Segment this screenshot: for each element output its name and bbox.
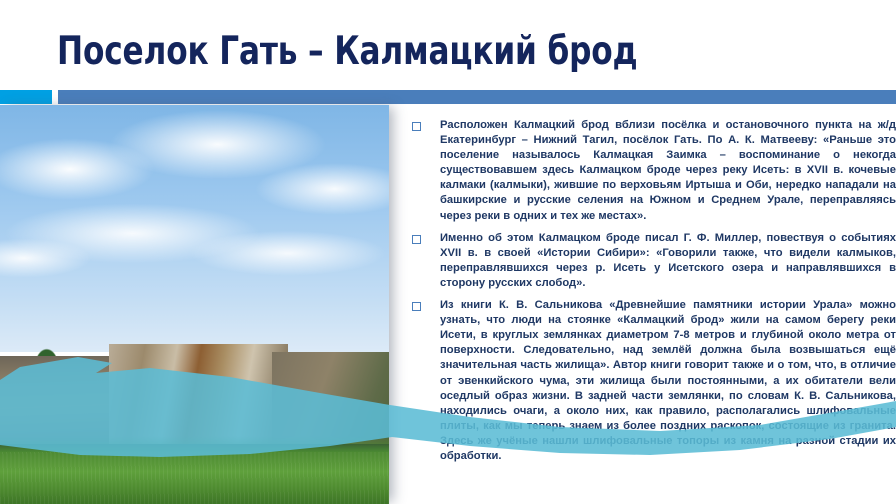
page-title: Поселок Гать – Калмацкий брод bbox=[57, 24, 697, 84]
header-rule-bar bbox=[58, 90, 896, 104]
list-item: Из книги К. В. Сальникова «Древнейшие па… bbox=[408, 298, 896, 464]
photo-canvas bbox=[0, 105, 389, 504]
slide-photo bbox=[0, 105, 389, 504]
list-item-text: Из книги К. В. Сальникова «Древнейшие па… bbox=[440, 298, 896, 464]
square-outline-icon bbox=[412, 235, 421, 244]
header-accent-block bbox=[0, 90, 52, 104]
square-outline-icon bbox=[412, 122, 421, 131]
presentation-slide: Поселок Гать – Калмацкий брод Расположен… bbox=[0, 0, 896, 504]
list-item-text: Именно об этом Калмацком броде писал Г. … bbox=[440, 231, 896, 291]
list-item-text: Расположен Калмацкий брод вблизи посёлка… bbox=[440, 118, 896, 224]
list-item: Расположен Калмацкий брод вблизи посёлка… bbox=[408, 118, 896, 224]
square-outline-icon bbox=[412, 302, 421, 311]
list-item: Именно об этом Калмацком броде писал Г. … bbox=[408, 231, 896, 291]
photo-grass-layer bbox=[0, 452, 389, 504]
body-text-column: Расположен Калмацкий брод вблизи посёлка… bbox=[408, 118, 896, 471]
